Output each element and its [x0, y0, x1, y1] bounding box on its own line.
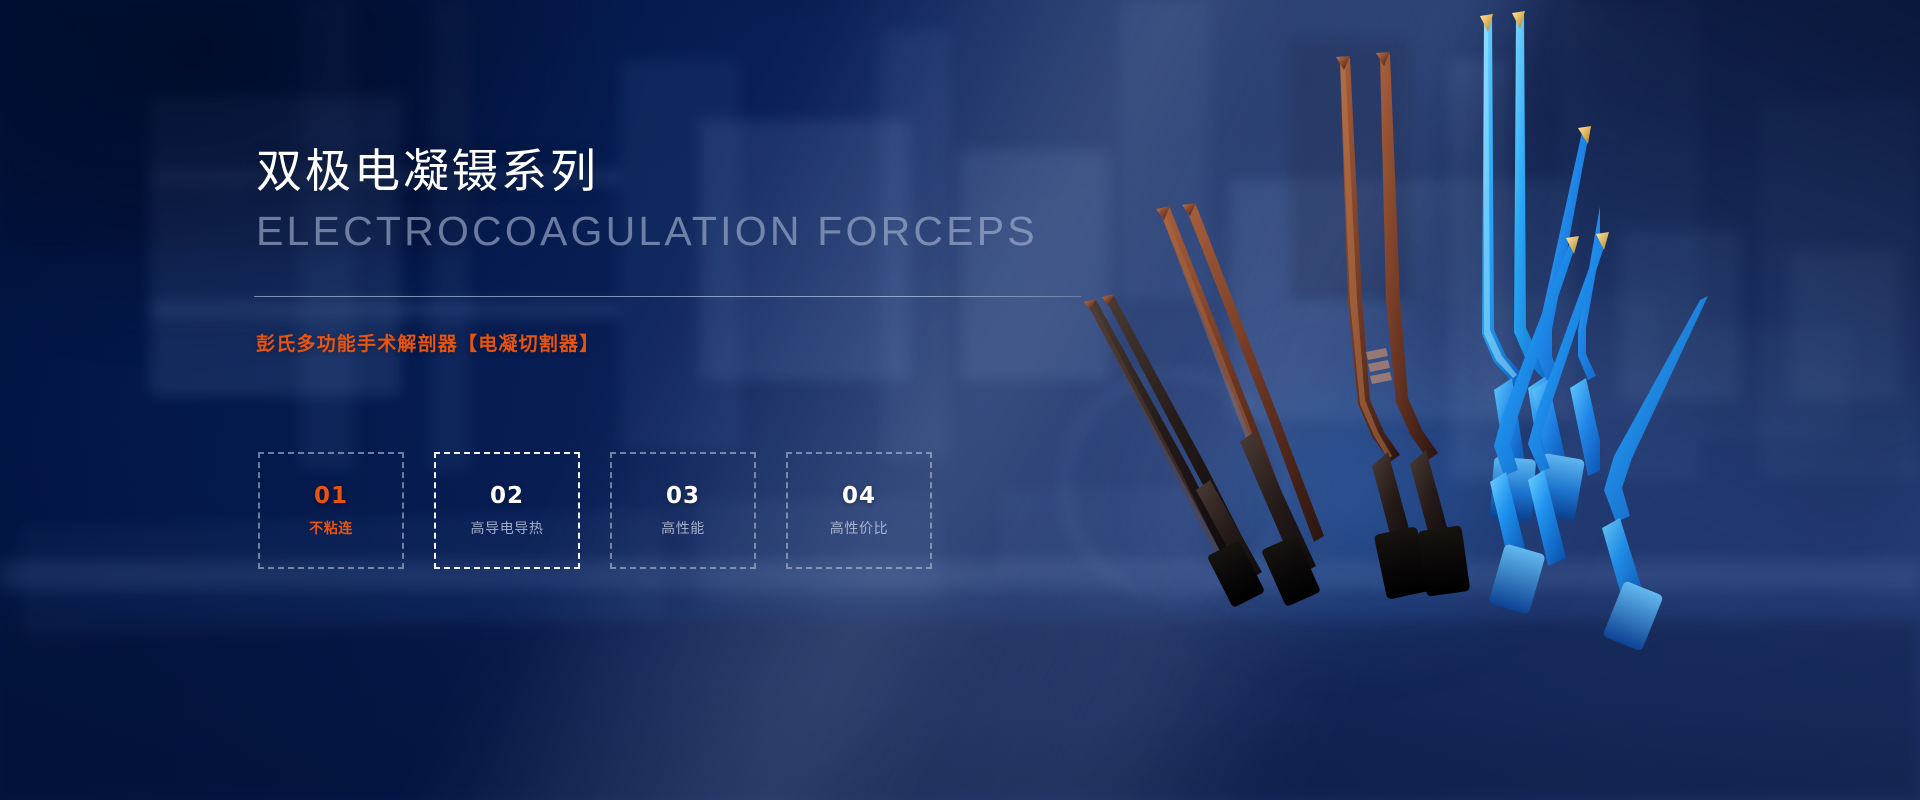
feature-label: 高导电导热	[471, 522, 544, 536]
feature-list: 01 不粘连 02 高导电导热 03 高性能 04 高性价比	[258, 452, 958, 572]
product-banner: 双极电凝镊系列 ELECTROCOAGULATION FORCEPS 彭氏多功能…	[0, 0, 1920, 800]
feature-number: 02	[490, 485, 524, 508]
feature-number: 03	[666, 485, 700, 508]
feature-label: 高性能	[661, 522, 705, 536]
page-title: 双极电凝镊系列	[256, 148, 599, 194]
divider	[254, 296, 1081, 297]
feature-card-02[interactable]: 02 高导电导热	[434, 452, 580, 569]
product-tagline: 彭氏多功能手术解剖器【电凝切割器】	[256, 335, 599, 354]
feature-label: 高性价比	[830, 522, 888, 536]
feature-label: 不粘连	[309, 522, 353, 536]
page-subtitle-en: ELECTROCOAGULATION FORCEPS	[256, 211, 1038, 252]
feature-number: 04	[842, 485, 876, 508]
feature-card-03[interactable]: 03 高性能	[610, 452, 756, 569]
feature-card-04[interactable]: 04 高性价比	[786, 452, 932, 569]
feature-number: 01	[314, 485, 348, 508]
banner-text-block: 双极电凝镊系列 ELECTROCOAGULATION FORCEPS 彭氏多功能…	[0, 0, 1100, 800]
feature-card-01[interactable]: 01 不粘连	[258, 452, 404, 569]
